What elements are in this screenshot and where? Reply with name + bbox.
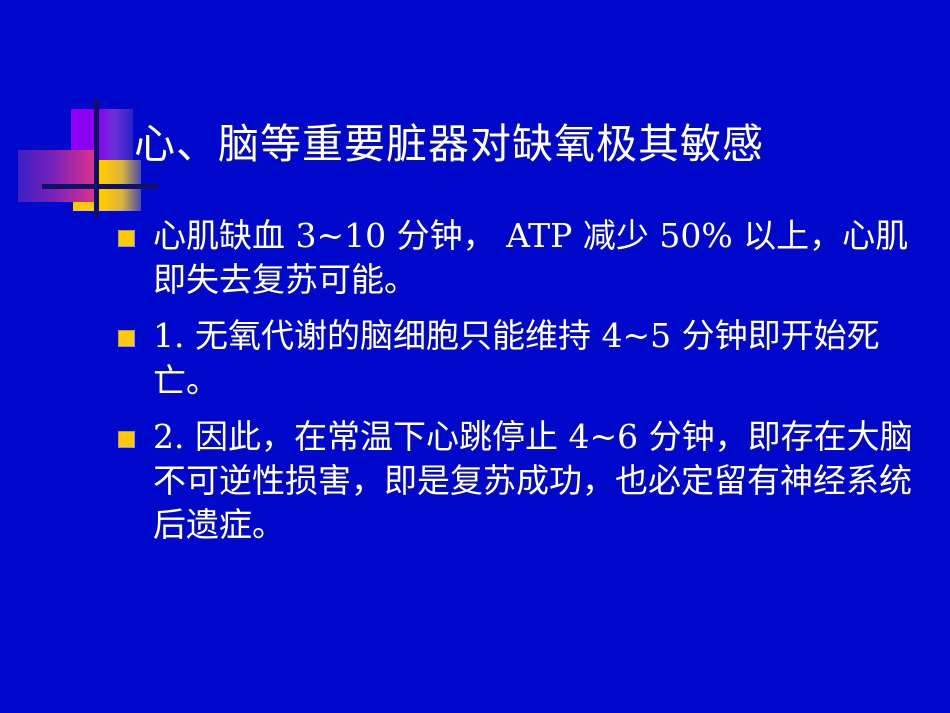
decoration-magenta-rect <box>18 150 96 202</box>
bullet-text: 2. 因此，在常温下心跳停止 4~6 分钟，即存在大脑不可逆性损害，即是复苏成功… <box>153 415 938 548</box>
slide-bullet-list: 心肌缺血 3~10 分钟， ATP 减少 50% 以上，心肌即失去复苏可能。 1… <box>118 214 938 560</box>
list-item: 2. 因此，在常温下心跳停止 4~6 分钟，即存在大脑不可逆性损害，即是复苏成功… <box>118 415 938 548</box>
square-bullet-icon <box>118 431 135 448</box>
bullet-text: 1. 无氧代谢的脑细胞只能维持 4~5 分钟即开始死亡。 <box>153 314 938 402</box>
bullet-text: 心肌缺血 3~10 分钟， ATP 减少 50% 以上，心肌即失去复苏可能。 <box>153 214 938 302</box>
decoration-horizontal-line <box>42 184 158 189</box>
slide-decoration-motif <box>18 98 138 213</box>
decoration-vertical-line <box>94 100 99 218</box>
list-item: 1. 无氧代谢的脑细胞只能维持 4~5 分钟即开始死亡。 <box>118 314 938 402</box>
square-bullet-icon <box>118 330 135 347</box>
slide-title: 心、脑等重要脏器对缺氧极其敏感 <box>134 122 764 167</box>
slide-canvas: { "slide": { "background_color": "#0008c… <box>0 0 950 713</box>
square-bullet-icon <box>118 230 135 247</box>
list-item: 心肌缺血 3~10 分钟， ATP 减少 50% 以上，心肌即失去复苏可能。 <box>118 214 938 302</box>
